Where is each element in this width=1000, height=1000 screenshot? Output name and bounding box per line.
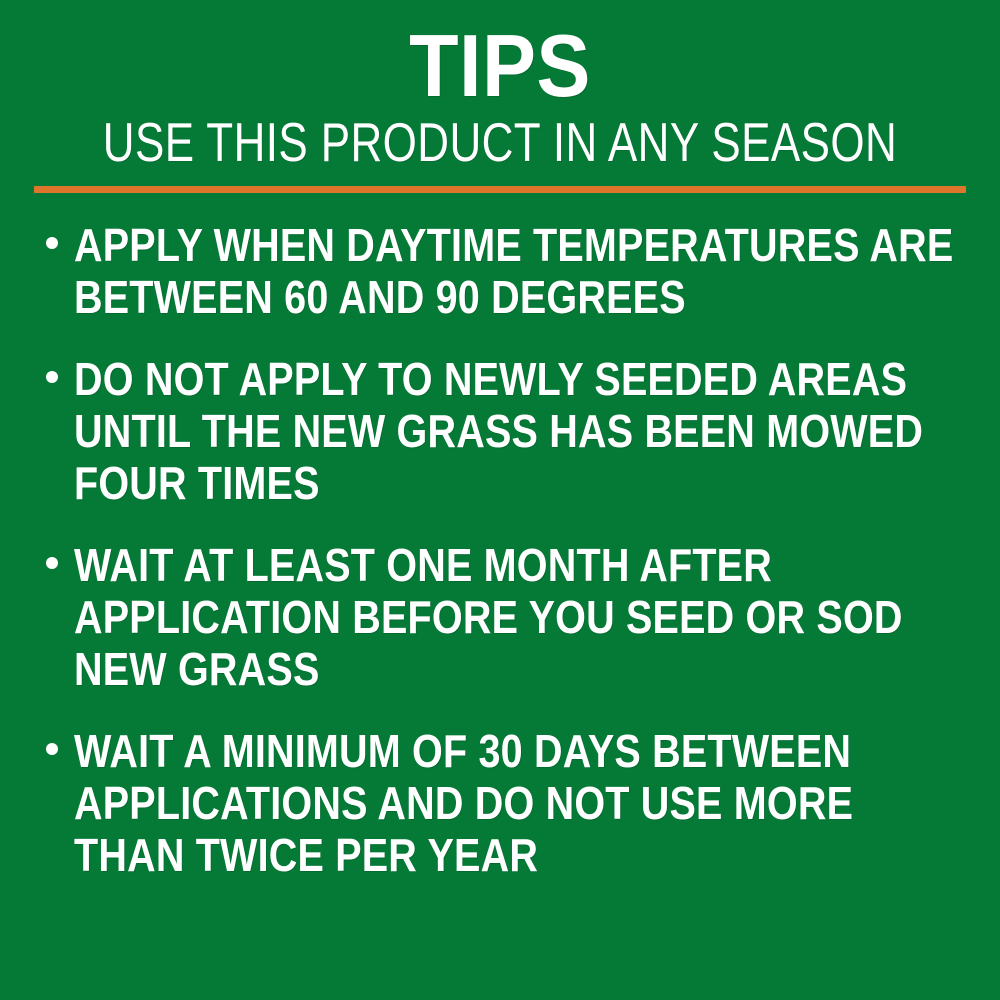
tips-list: APPLY WHEN DAYTIME TEMPERATURES ARE BETW… <box>0 193 1000 881</box>
list-item-label: WAIT AT LEAST ONE MONTH AFTER APPLICATIO… <box>74 539 962 695</box>
list-item-label: APPLY WHEN DAYTIME TEMPERATURES ARE BETW… <box>74 219 962 323</box>
bullet-icon <box>46 557 58 569</box>
bullet-icon <box>46 237 58 249</box>
tips-panel: TIPS USE THIS PRODUCT IN ANY SEASON APPL… <box>0 0 1000 1000</box>
list-item: DO NOT APPLY TO NEWLY SEEDED AREAS UNTIL… <box>40 353 964 509</box>
page-subtitle: USE THIS PRODUCT IN ANY SEASON <box>100 110 900 170</box>
list-item: WAIT AT LEAST ONE MONTH AFTER APPLICATIO… <box>40 539 964 695</box>
accent-divider <box>34 186 966 193</box>
list-item-label: DO NOT APPLY TO NEWLY SEEDED AREAS UNTIL… <box>74 353 962 509</box>
bullet-icon <box>46 743 58 755</box>
divider-container <box>0 170 1000 193</box>
list-item-label: WAIT A MINIMUM OF 30 DAYS BETWEEN APPLIC… <box>74 725 962 881</box>
panel-header: TIPS USE THIS PRODUCT IN ANY SEASON <box>0 0 1000 170</box>
bullet-icon <box>46 371 58 383</box>
page-title: TIPS <box>40 22 960 110</box>
list-item: WAIT A MINIMUM OF 30 DAYS BETWEEN APPLIC… <box>40 725 964 881</box>
list-item: APPLY WHEN DAYTIME TEMPERATURES ARE BETW… <box>40 219 964 323</box>
